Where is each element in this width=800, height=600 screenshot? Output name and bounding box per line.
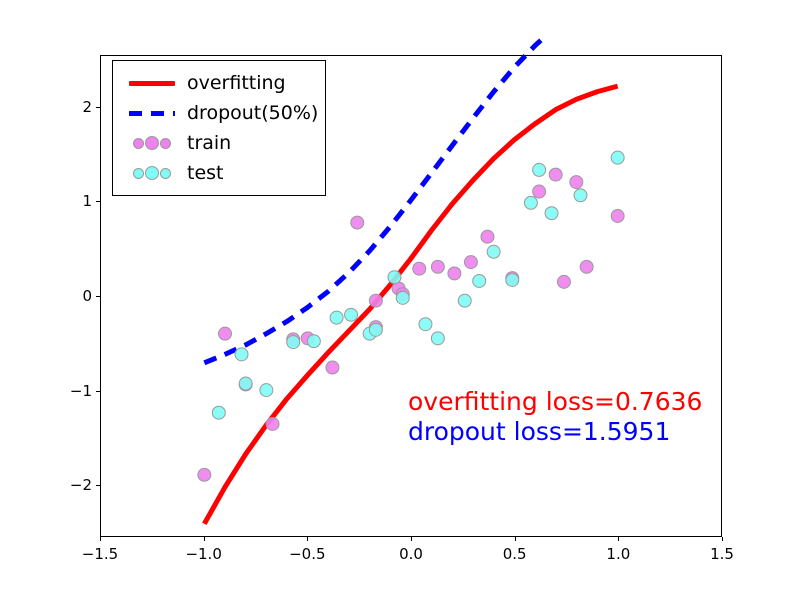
annotation-dropout-loss: dropout loss=1.5951 <box>408 418 670 445</box>
legend-key-train-markers <box>121 128 183 158</box>
legend-entry-overfitting: overfitting <box>121 68 317 98</box>
data-point <box>481 230 494 243</box>
y-tick-mark <box>96 485 100 486</box>
data-point <box>570 176 583 189</box>
data-point <box>239 377 252 390</box>
x-tick-label: −0.5 <box>289 545 325 563</box>
legend-entry-dropout: dropout(50%) <box>121 98 317 128</box>
data-point <box>330 311 343 324</box>
data-point <box>369 323 382 336</box>
data-point <box>307 335 320 348</box>
legend-label-overfitting: overfitting <box>183 72 286 94</box>
legend-label-test: test <box>183 162 224 184</box>
y-tick-label: 0 <box>56 287 92 305</box>
y-tick-mark <box>96 391 100 392</box>
data-point <box>266 418 279 431</box>
x-tick-mark <box>722 537 723 541</box>
legend-key-dashed-line <box>121 98 183 128</box>
y-tick-mark <box>96 107 100 108</box>
data-point <box>260 384 273 397</box>
data-point <box>487 245 500 258</box>
data-point <box>506 274 519 287</box>
data-point <box>557 275 570 288</box>
y-tick-label: −1 <box>56 382 92 400</box>
data-point <box>413 262 426 275</box>
legend-entry-train: train <box>121 128 317 158</box>
y-tick-mark <box>96 201 100 202</box>
data-point <box>345 308 358 321</box>
data-point <box>212 406 225 419</box>
legend-entry-test: test <box>121 158 317 188</box>
data-point <box>458 294 471 307</box>
data-point <box>574 189 587 202</box>
y-tick-label: 1 <box>56 192 92 210</box>
data-point <box>473 274 486 287</box>
data-point <box>431 260 444 273</box>
legend-label-train: train <box>183 132 231 154</box>
matplotlib-figure: −1.5−1.0−0.50.00.51.01.5 −2−1012 overfit… <box>0 0 800 600</box>
x-tick-mark <box>100 537 101 541</box>
x-tick-mark <box>204 537 205 541</box>
x-tick-label: 1.0 <box>606 545 630 563</box>
chart-legend: overfitting dropout(50%) train test <box>112 60 326 196</box>
annotation-overfitting-loss: overfitting loss=0.7636 <box>408 388 702 415</box>
data-point <box>351 216 364 229</box>
legend-key-test-markers <box>121 158 183 188</box>
data-point <box>388 271 401 284</box>
data-point <box>431 332 444 345</box>
data-point <box>287 336 300 349</box>
data-point <box>369 294 382 307</box>
y-tick-label: −2 <box>56 476 92 494</box>
data-point <box>549 168 562 181</box>
data-point <box>448 267 461 280</box>
data-point <box>533 163 546 176</box>
data-point <box>611 210 624 223</box>
data-point <box>580 260 593 273</box>
x-tick-label: 0.5 <box>503 545 527 563</box>
data-point <box>524 196 537 209</box>
y-tick-label: 2 <box>56 98 92 116</box>
data-point <box>419 318 432 331</box>
x-tick-label: −1.0 <box>185 545 221 563</box>
data-point <box>464 256 477 269</box>
x-tick-label: 0.0 <box>399 545 423 563</box>
data-point <box>396 291 409 304</box>
x-tick-label: −1.5 <box>82 545 118 563</box>
data-point <box>198 468 211 481</box>
x-tick-mark <box>307 537 308 541</box>
data-point <box>545 207 558 220</box>
x-tick-mark <box>618 537 619 541</box>
y-tick-mark <box>96 296 100 297</box>
legend-key-solid-line <box>121 68 183 98</box>
data-point <box>533 185 546 198</box>
data-point <box>219 327 232 340</box>
data-point <box>611 151 624 164</box>
x-tick-mark <box>411 537 412 541</box>
data-point <box>326 361 339 374</box>
data-point <box>235 348 248 361</box>
x-tick-mark <box>515 537 516 541</box>
legend-label-dropout: dropout(50%) <box>183 102 318 124</box>
x-tick-label: 1.5 <box>710 545 734 563</box>
